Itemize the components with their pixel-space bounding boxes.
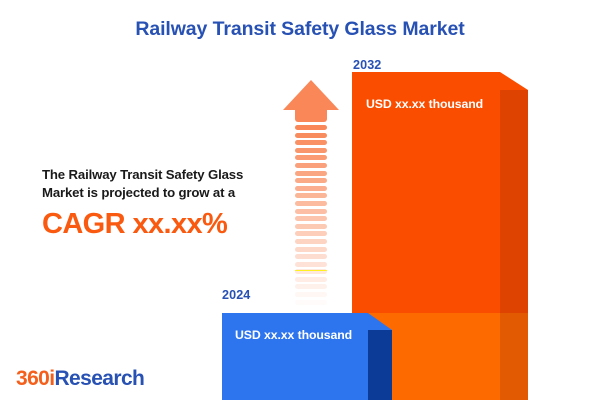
arrow-stripe bbox=[295, 284, 327, 289]
growth-arrow-icon bbox=[283, 80, 339, 292]
statement-line-2: Market is projected to grow at a bbox=[42, 184, 286, 202]
arrow-stripe bbox=[295, 292, 327, 297]
arrow-neck-icon bbox=[295, 110, 327, 122]
arrow-stripe bbox=[295, 193, 327, 198]
arrow-stripes bbox=[295, 125, 327, 307]
arrow-stripe bbox=[295, 300, 327, 305]
statement-block: The Railway Transit Safety Glass Market … bbox=[42, 166, 286, 240]
arrow-stripe bbox=[295, 186, 327, 191]
statement-line-1: The Railway Transit Safety Glass bbox=[42, 166, 286, 184]
bar-2024-year-label: 2024 bbox=[222, 288, 250, 302]
arrow-stripe bbox=[295, 148, 327, 153]
arrow-stripe bbox=[295, 224, 327, 229]
arrow-stripe bbox=[295, 216, 327, 221]
brand-logo-360i: 360i bbox=[16, 367, 54, 390]
arrow-stripe bbox=[295, 254, 327, 259]
bar-2032-year-label: 2032 bbox=[353, 58, 381, 72]
brand-logo-research: Research bbox=[54, 367, 144, 390]
bar-2024 bbox=[222, 313, 392, 400]
brand-logo: 360iResearch bbox=[16, 367, 144, 391]
bar-2024-front-face bbox=[222, 313, 368, 400]
arrow-stripe bbox=[295, 201, 327, 206]
arrow-highlight-line bbox=[295, 270, 327, 271]
page-title: Railway Transit Safety Glass Market bbox=[0, 18, 600, 41]
arrow-stripe bbox=[295, 247, 327, 252]
arrow-stripe bbox=[295, 140, 327, 145]
arrow-stripe bbox=[295, 239, 327, 244]
arrow-head-icon bbox=[283, 80, 339, 110]
arrow-stripe bbox=[295, 133, 327, 138]
cagr-value: CAGR xx.xx% bbox=[42, 208, 286, 240]
infographic-canvas: Railway Transit Safety Glass Market The … bbox=[0, 0, 600, 400]
arrow-stripe bbox=[295, 209, 327, 214]
arrow-stripe bbox=[295, 163, 327, 168]
bar-2032-value-label: USD xx.xx thousand bbox=[366, 97, 483, 111]
bar-2032-lower-side-face bbox=[500, 313, 528, 400]
arrow-stripe bbox=[295, 262, 327, 267]
bar-2024-value-label: USD xx.xx thousand bbox=[235, 328, 352, 342]
bar-2024-top-face bbox=[368, 313, 392, 330]
arrow-stripe bbox=[295, 231, 327, 236]
arrow-stripe bbox=[295, 277, 327, 282]
arrow-stripe bbox=[295, 125, 327, 130]
bar-2024-side-face bbox=[368, 330, 392, 400]
arrow-stripe bbox=[295, 171, 327, 176]
arrow-stripe bbox=[295, 155, 327, 160]
bar-2032-top-face bbox=[500, 72, 528, 90]
arrow-stripe bbox=[295, 178, 327, 183]
